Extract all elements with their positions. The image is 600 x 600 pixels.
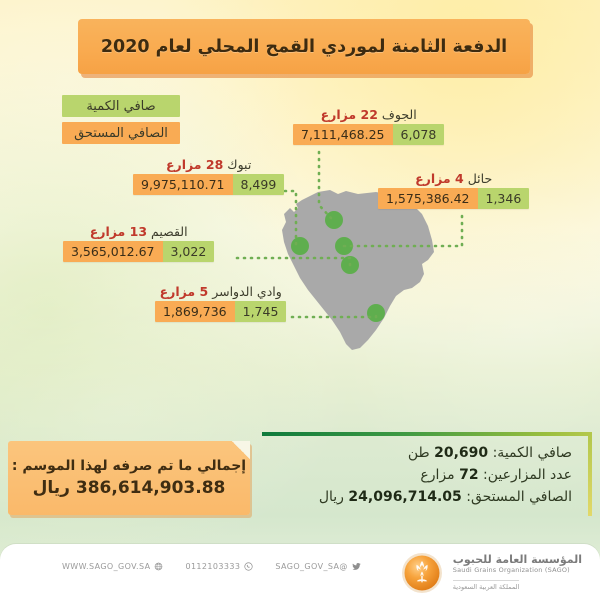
region-chips-hail: 1,346 1,575,386.42 <box>378 188 529 209</box>
summary-amount-unit: ريال <box>319 489 344 505</box>
legend-label-amount: الصافي المستحق <box>74 126 168 141</box>
region-callout-hail: حائل 4 مزارع 1,346 1,575,386.42 <box>378 172 529 209</box>
region-callout-qassim: القصيم 13 مزارع 3,022 3,565,012.67 <box>63 225 214 262</box>
summary-row-quantity: صافي الكمية: 20,690 طن <box>272 443 572 465</box>
region-farms-count-hail: 4 <box>455 171 464 186</box>
region-chips-qassim: 3,022 3,565,012.67 <box>63 241 214 262</box>
region-amount-wadi: 1,869,736 <box>155 301 235 322</box>
summary-farmers-value: 72 <box>459 467 478 483</box>
sago-brand-text: المؤسسة العامة للحبوب Saudi Grains Organ… <box>453 553 582 593</box>
region-callout-tabuk: تبوك 28 مزارع 8,499 9,975,110.71 <box>133 158 284 195</box>
legend-label-quantity: صافي الكمية <box>86 99 155 114</box>
phone-number[interactable]: 0112103333 <box>185 562 253 571</box>
phone-number-text: 0112103333 <box>185 562 240 571</box>
season-total-box: إجمالي ما تم صرفه لهذا الموسم : 386,614,… <box>8 441 250 515</box>
twitter-handle-text: @SAGO_GOV_SA <box>275 562 347 571</box>
region-callout-wadi-aldawasir: وادي الدواسر 5 مزارع 1,745 1,869,736 <box>155 285 286 322</box>
legend-item-quantity: صافي الكمية <box>62 95 180 117</box>
infographic-canvas: الدفعة الثامنة لموردي القمح المحلي لعام … <box>0 0 600 600</box>
whatsapp-icon <box>244 562 253 571</box>
website-link[interactable]: WWW.SAGO_GOV.SA <box>62 562 163 571</box>
summary-row-amount: الصافي المستحق: 24,096,714.05 ريال <box>272 487 572 509</box>
region-header-qassim: القصيم 13 مزارع <box>63 225 214 239</box>
summary-quantity-value: 20,690 <box>434 445 488 461</box>
footer-bar: @SAGO_GOV_SA 0112103333 WWW.SAGO_GOV.SA <box>0 544 600 600</box>
brand-name-english: Saudi Grains Organization (SAGO) <box>453 566 582 574</box>
region-farms-unit-wadi: مزارع <box>160 284 196 299</box>
summary-quantity-unit: طن <box>408 445 430 461</box>
map-dot-wadi <box>367 304 385 322</box>
legend: صافي الكمية الصافي المستحق <box>62 95 180 149</box>
region-amount-qassim: 3,565,012.67 <box>63 241 163 262</box>
map-dot-jawf <box>325 211 343 229</box>
season-total-label: إجمالي ما تم صرفه لهذا الموسم : <box>12 458 246 474</box>
season-total-value: 386,614,903.88 ريال <box>33 478 226 498</box>
region-quantity-qassim: 3,022 <box>163 241 215 262</box>
region-quantity-wadi: 1,745 <box>235 301 287 322</box>
summary-amount-label: الصافي المستحق: <box>466 489 572 505</box>
sago-wheat-logo-icon <box>401 552 443 594</box>
region-chips-tabuk: 8,499 9,975,110.71 <box>133 174 284 195</box>
legend-item-amount: الصافي المستحق <box>62 122 180 144</box>
region-header-hail: حائل 4 مزارع <box>378 172 529 186</box>
region-farms-count-jawf: 22 <box>361 107 378 122</box>
summary-row-farmers: عدد المزارعين: 72 مزارع <box>272 465 572 487</box>
summary-farmers-label: عدد المزارعين: <box>483 467 572 483</box>
contact-info: @SAGO_GOV_SA 0112103333 WWW.SAGO_GOV.SA <box>62 562 361 571</box>
summary-quantity-label: صافي الكمية: <box>493 445 572 461</box>
region-name-wadi: وادي الدواسر <box>212 284 282 299</box>
region-name-tabuk: تبوك <box>227 157 251 172</box>
summary-farmers-unit: مزارع <box>420 467 454 483</box>
region-callout-jawf: الجوف 22 مزارع 6,078 7,111,468.25 <box>293 108 444 145</box>
region-amount-hail: 1,575,386.42 <box>378 188 478 209</box>
region-farms-unit-jawf: مزارع <box>321 107 357 122</box>
twitter-icon <box>352 562 361 571</box>
twitter-handle[interactable]: @SAGO_GOV_SA <box>275 562 360 571</box>
region-header-jawf: الجوف 22 مزارع <box>293 108 444 122</box>
corner-fold-decoration <box>232 441 250 459</box>
region-chips-wadi: 1,745 1,869,736 <box>155 301 286 322</box>
region-quantity-jawf: 6,078 <box>393 124 445 145</box>
region-name-qassim: القصيم <box>151 224 188 239</box>
map-shape <box>282 190 434 350</box>
region-quantity-tabuk: 8,499 <box>233 174 285 195</box>
brand-name-arabic: المؤسسة العامة للحبوب <box>453 553 582 566</box>
page-title: الدفعة الثامنة لموردي القمح المحلي لعام … <box>78 19 530 74</box>
map-dot-qassim <box>341 256 359 274</box>
region-farms-count-tabuk: 28 <box>206 157 223 172</box>
website-link-text: WWW.SAGO_GOV.SA <box>62 562 150 571</box>
region-name-hail: حائل <box>468 171 492 186</box>
brand-country: المملكة العربية السعودية <box>453 580 520 591</box>
summary-panel: صافي الكمية: 20,690 طن عدد المزارعين: 72… <box>262 432 592 516</box>
region-amount-tabuk: 9,975,110.71 <box>133 174 233 195</box>
region-amount-jawf: 7,111,468.25 <box>293 124 393 145</box>
region-name-jawf: الجوف <box>382 107 417 122</box>
region-header-wadi: وادي الدواسر 5 مزارع <box>155 285 286 299</box>
region-farms-count-wadi: 5 <box>200 284 209 299</box>
summary-amount-value: 24,096,714.05 <box>348 489 461 505</box>
region-header-tabuk: تبوك 28 مزارع <box>133 158 284 172</box>
region-farms-count-qassim: 13 <box>130 224 147 239</box>
region-quantity-hail: 1,346 <box>478 188 530 209</box>
sago-brand: المؤسسة العامة للحبوب Saudi Grains Organ… <box>401 552 582 594</box>
globe-icon <box>154 562 163 571</box>
page-title-text: الدفعة الثامنة لموردي القمح المحلي لعام … <box>101 37 507 57</box>
region-farms-unit-qassim: مزارع <box>90 224 126 239</box>
map-dot-hail <box>335 237 353 255</box>
region-farms-unit-hail: مزارع <box>415 171 451 186</box>
map-dot-tabuk <box>291 237 309 255</box>
region-chips-jawf: 6,078 7,111,468.25 <box>293 124 444 145</box>
region-farms-unit-tabuk: مزارع <box>166 157 202 172</box>
